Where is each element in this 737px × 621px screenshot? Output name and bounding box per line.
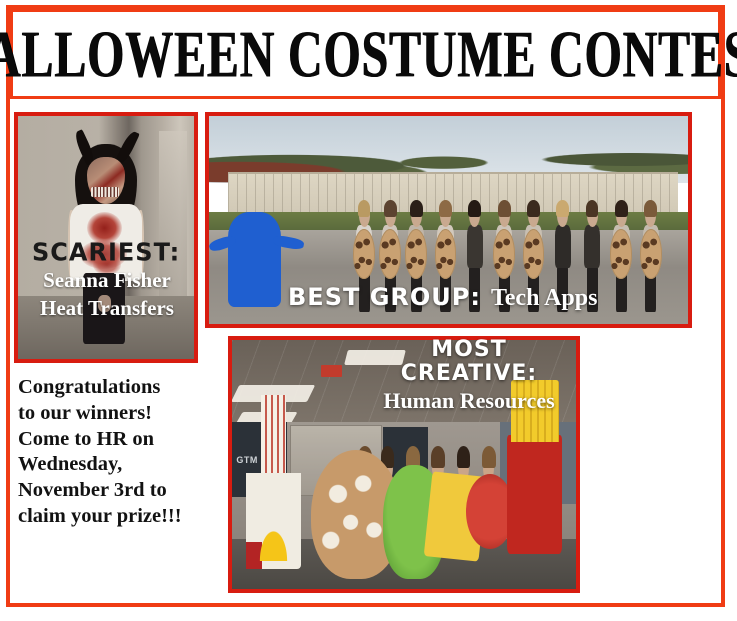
person-hair (410, 200, 423, 217)
cup-body (246, 473, 301, 569)
announcement-line: to our winners! (18, 401, 223, 427)
cookie-monster-costume (228, 212, 281, 308)
french-fries-costume (507, 435, 562, 555)
zombie-teeth (91, 187, 119, 197)
straw (261, 395, 286, 486)
page-title: HALLOWEEN COSTUME CONTEST (0, 20, 737, 87)
person-hair (556, 200, 569, 217)
caption-best-group: BEST GROUP: Tech Apps (288, 283, 597, 312)
announcement-text: Congratulations to our winners! Come to … (18, 375, 223, 530)
cookie-costume (493, 229, 515, 279)
person-hair (457, 446, 471, 468)
cookie-costume (405, 229, 427, 279)
announcement-line: Congratulations (18, 375, 223, 401)
caption-most-creative: MOST CREATIVE: Human Resources (360, 338, 578, 414)
person-hair (384, 200, 397, 217)
person-hair (586, 200, 599, 217)
person-body (584, 225, 600, 268)
cookie-costume (523, 229, 545, 279)
cookie-costume (640, 229, 662, 279)
crowd-person (610, 203, 633, 311)
person-body (555, 225, 571, 268)
award-winner-scariest-department: Heat Transfers (18, 297, 196, 320)
announcement-line: November 3rd to (18, 478, 223, 504)
announcement-line: Wednesday, (18, 452, 223, 478)
golden-arches-logo (256, 523, 291, 561)
cookie-costume (610, 229, 632, 279)
cookie-costume (379, 229, 401, 279)
person-hair (498, 200, 511, 217)
award-label-scariest: SCARIEST: (32, 239, 196, 264)
person-hair (439, 200, 452, 217)
cookie-costume (435, 229, 457, 279)
announcement-line: Come to HR on (18, 427, 223, 453)
person-body (467, 225, 483, 268)
halloween-costume-contest-poster: HALLOWEEN COSTUME CONTEST (0, 0, 737, 621)
person-hair (482, 446, 496, 468)
announcement-line: claim your prize!!! (18, 504, 223, 530)
person-hair (527, 200, 540, 217)
award-label-best-group: BEST GROUP: (288, 283, 481, 311)
award-winner-most-creative: Human Resources (360, 388, 578, 413)
person-hair (468, 200, 481, 217)
soda-cup-costume (239, 395, 308, 569)
person-hair (615, 200, 628, 217)
crowd-person (639, 203, 662, 311)
title-banner: HALLOWEEN COSTUME CONTEST (10, 9, 721, 99)
award-winner-best-group: Tech Apps (491, 285, 598, 311)
award-winner-scariest-name: Seanna Fisher (18, 269, 196, 292)
award-label-most-creative: MOST CREATIVE: (360, 338, 578, 386)
person-hair (644, 200, 657, 217)
person-hair (358, 200, 371, 217)
person-hair (431, 446, 445, 468)
caption-scariest: SCARIEST: Seanna Fisher Heat Transfers (18, 240, 196, 319)
exit-sign (321, 365, 342, 377)
cookie-costume (353, 229, 375, 279)
